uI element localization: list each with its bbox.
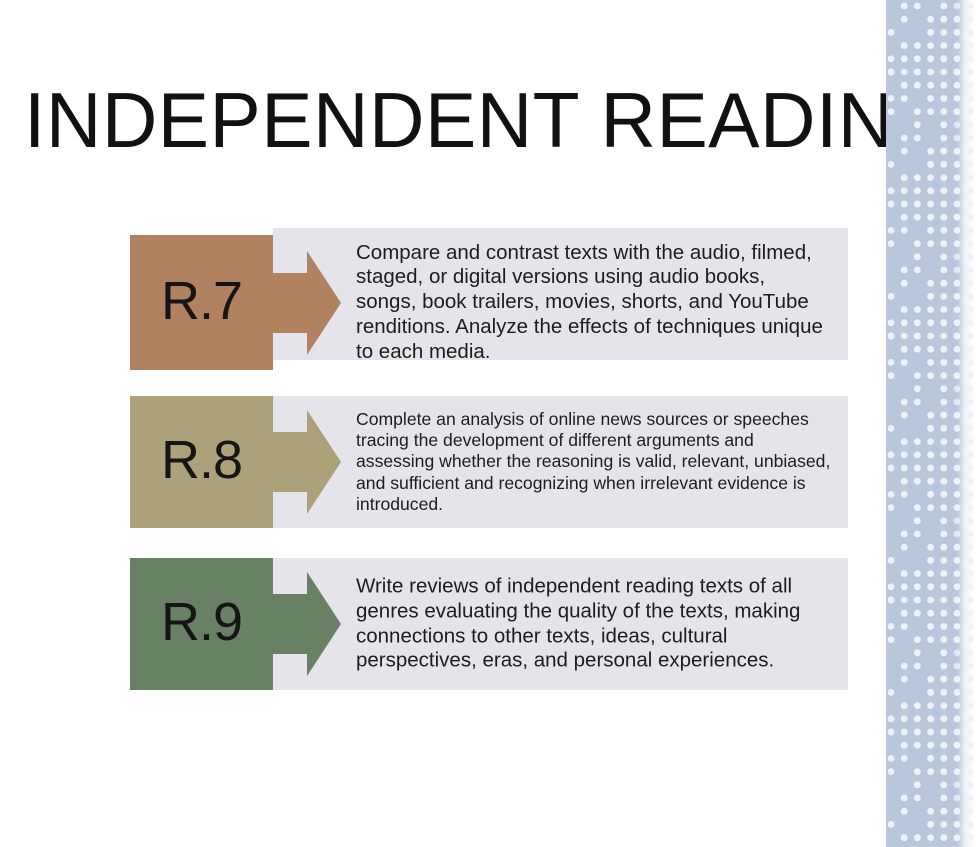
slide-canvas: INDEPENDENT READING R.7 Compare and cont… — [0, 0, 980, 847]
side-band-dot-pattern — [886, 0, 980, 847]
standard-code-label: R.7 — [161, 274, 242, 328]
standard-row: R.9 Write reviews of independent reading… — [130, 558, 848, 690]
decorative-side-band — [886, 0, 980, 847]
standard-description: Compare and contrast texts with the audi… — [356, 241, 824, 365]
standard-description: Write reviews of independent reading tex… — [356, 574, 818, 673]
standard-code-block[interactable]: R.8 — [130, 396, 273, 528]
standard-code-label: R.8 — [161, 433, 242, 487]
standard-row: R.8 Complete an analysis of online news … — [130, 396, 848, 528]
standard-row: R.7 Compare and contrast texts with the … — [130, 235, 848, 370]
standard-description: Complete an analysis of online news sour… — [356, 409, 832, 515]
standard-code-block[interactable]: R.7 — [130, 235, 273, 370]
standard-code-label: R.9 — [161, 595, 242, 649]
standards-list: R.7 Compare and contrast texts with the … — [0, 0, 880, 847]
standard-code-block[interactable]: R.9 — [130, 558, 273, 690]
